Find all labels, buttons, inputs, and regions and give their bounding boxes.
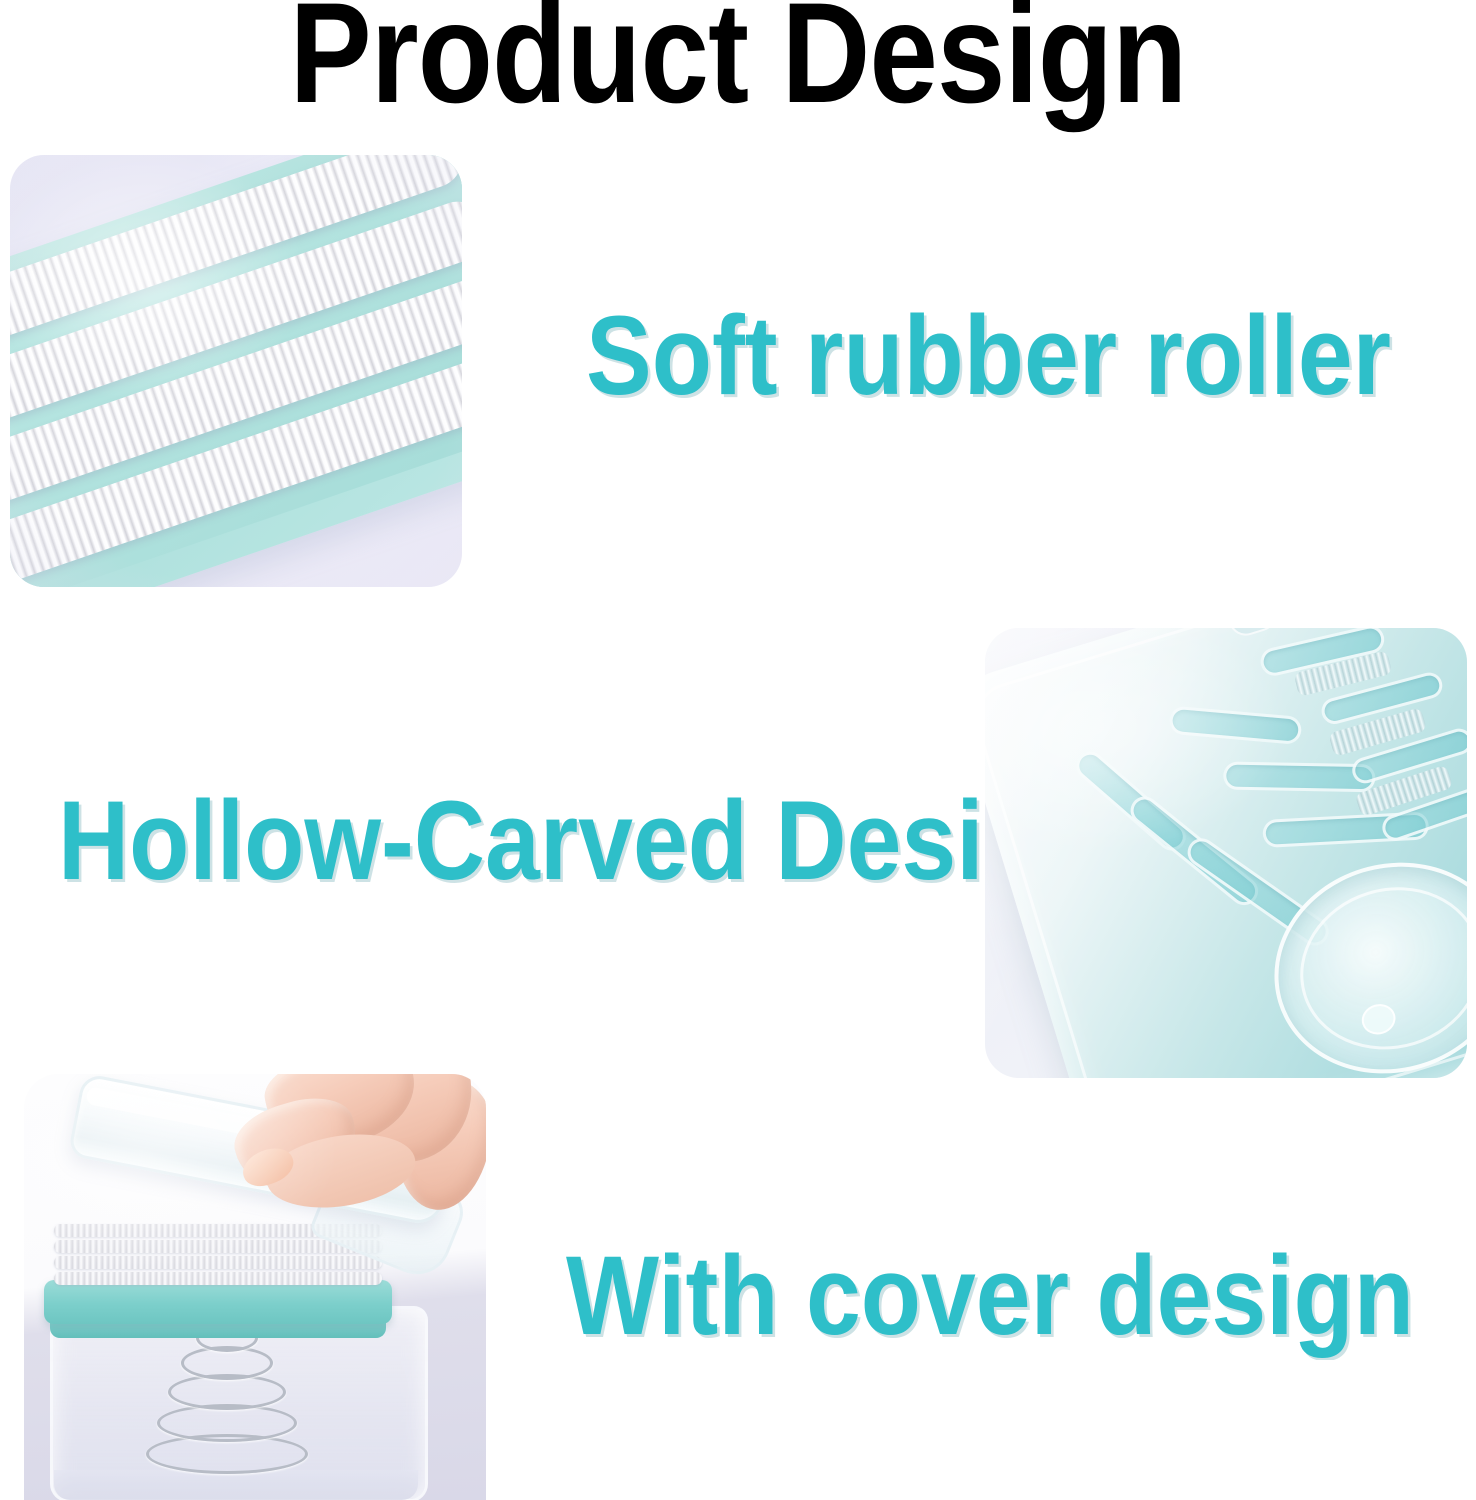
mint-roller-tray — [44, 1280, 392, 1324]
page-title: Product Design — [103, 0, 1372, 125]
feature-caption-hollow-carved-design: Hollow-Carved Design — [58, 785, 1104, 897]
hand-holding-cover — [230, 1074, 486, 1264]
hollow-carved-base — [985, 628, 1467, 1078]
rubber-roller — [54, 1272, 382, 1285]
feature-photo-with-cover-design — [24, 1074, 486, 1500]
feature-caption-soft-rubber-roller: Soft rubber roller — [586, 300, 1391, 412]
roller-assembly — [10, 155, 462, 587]
tray-lip — [50, 1322, 386, 1338]
feature-caption-with-cover-design: With cover design — [566, 1240, 1414, 1352]
box-floor — [54, 1470, 418, 1500]
coil-spring — [142, 1324, 312, 1474]
feature-photo-hollow-carved-design — [985, 628, 1467, 1078]
rubber-roller-group — [10, 155, 462, 587]
feature-photo-soft-rubber-roller — [10, 155, 462, 587]
